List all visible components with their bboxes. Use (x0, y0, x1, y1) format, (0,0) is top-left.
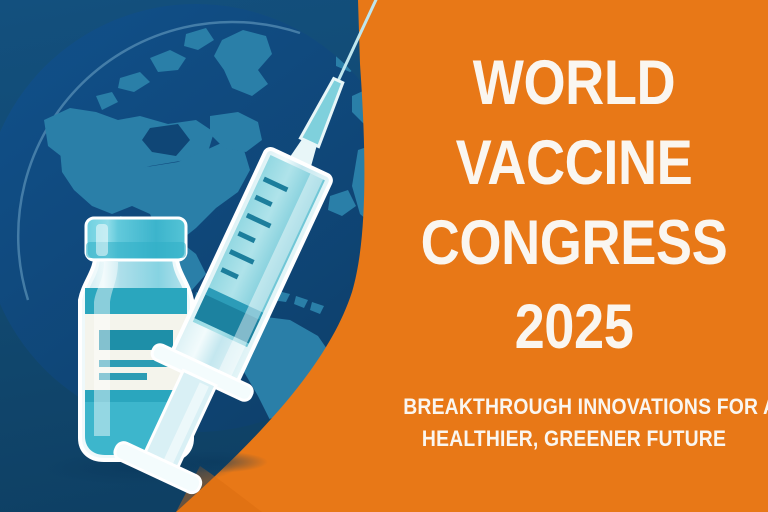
illustration-artwork (0, 0, 768, 512)
poster-canvas: WORLD VACCINE CONGRESS 2025 BREAKTHROUGH… (0, 0, 768, 512)
vial-cap-highlight (96, 224, 108, 256)
